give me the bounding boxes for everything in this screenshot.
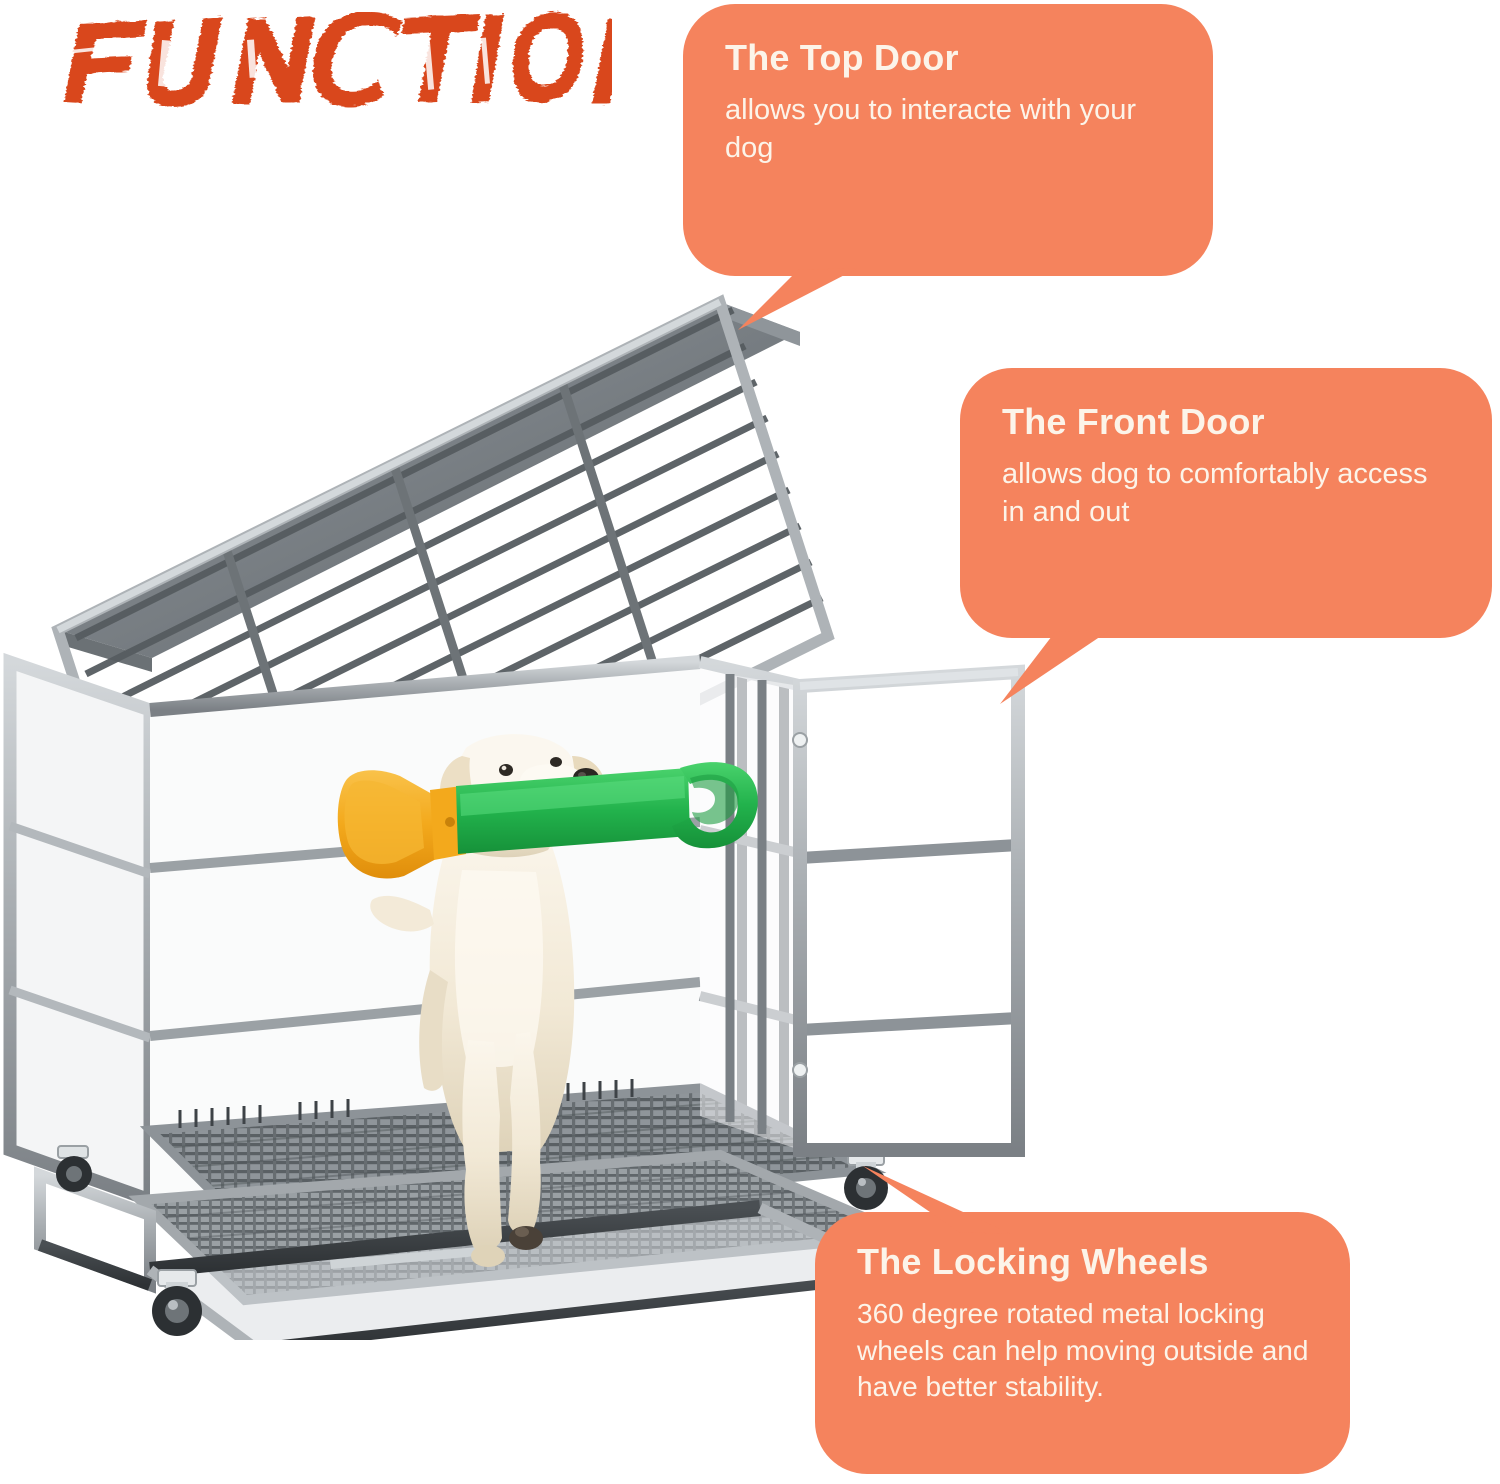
crate-left-side-panel [10,662,150,1200]
callout-bubble: The Top Door allows you to interacte wit… [683,4,1213,276]
callout-body: allows dog to comfortably access in and … [1002,456,1452,531]
callout-front-door[interactable]: The Front Door allows dog to comfortably… [960,368,1492,638]
callout-locking-wheels[interactable]: The Locking Wheels 360 degree rotated me… [815,1212,1350,1474]
front-door-panel[interactable] [700,670,1018,1150]
callout-heading: The Top Door [725,38,1173,78]
callout-heading: The Front Door [1002,402,1452,442]
function-title-brush-art [52,10,612,110]
callout-body: allows you to interacte with your dog [725,92,1173,167]
page-title [52,10,612,110]
caster-rear-left[interactable] [56,1146,92,1192]
callout-top-door[interactable]: The Top Door allows you to interacte wit… [683,4,1213,276]
infographic-canvas: The Top Door allows you to interacte wit… [0,0,1500,1484]
callout-heading: The Locking Wheels [857,1242,1310,1282]
caster-front-left[interactable] [152,1270,202,1336]
callout-bubble: The Locking Wheels 360 degree rotated me… [815,1212,1350,1474]
callout-bubble: The Front Door allows dog to comfortably… [960,368,1492,638]
callout-body: 360 degree rotated metal locking wheels … [857,1296,1310,1405]
